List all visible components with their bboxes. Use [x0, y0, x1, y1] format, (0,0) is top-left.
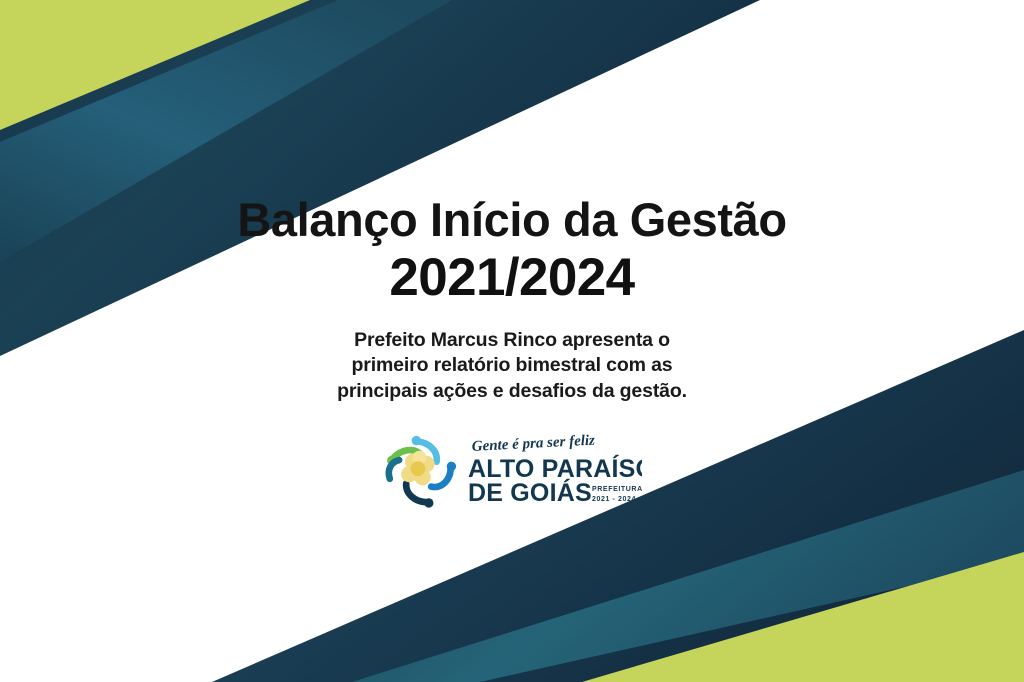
slide-title-primary: Balanço Início da Gestão: [0, 196, 1024, 245]
alto-paraiso-pinwheel-flower-icon: [382, 432, 460, 510]
slide-subtitle-line-2: primeiro relatório bimestral com as: [337, 353, 687, 378]
slide-subtitle-line-3: principais ações e desafios da gestão.: [337, 379, 687, 404]
slide-subtitle-line-1: Prefeito Marcus Rinco apresenta o: [337, 328, 687, 353]
logo-term-years: 2021 - 2024: [592, 496, 636, 503]
city-hall-logo-text: Gente é pra ser feliz ALTO PARAÍSO DE GO…: [466, 434, 642, 508]
logo-script-slogan: Gente é pra ser feliz: [471, 434, 595, 455]
presentation-slide: Balanço Início da Gestão 2021/2024 Prefe…: [0, 0, 1024, 682]
slide-title-years: 2021/2024: [0, 249, 1024, 306]
city-hall-logo: Gente é pra ser feliz ALTO PARAÍSO DE GO…: [382, 432, 642, 510]
logo-prefeitura-label: PREFEITURA: [592, 486, 642, 493]
slide-content: Balanço Início da Gestão 2021/2024 Prefe…: [0, 0, 1024, 682]
flower-center: [401, 451, 435, 486]
logo-city-name-line-2: DE GOIÁS: [468, 478, 592, 507]
slide-subtitle: Prefeito Marcus Rinco apresenta o primei…: [337, 328, 687, 404]
title-block: Balanço Início da Gestão 2021/2024: [0, 196, 1024, 306]
